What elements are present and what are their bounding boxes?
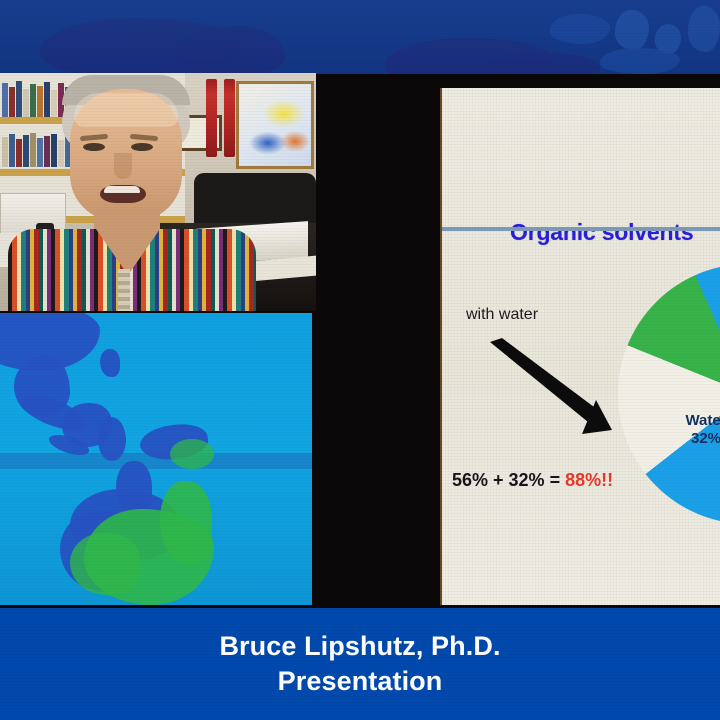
pie-slice-label-water: Water 32% [658, 412, 720, 449]
pie-chart-slices [618, 264, 720, 524]
equation-left: 56% + 32% = [452, 470, 565, 490]
screenshot-stage: Organic solvents with water Rea Water 32… [0, 0, 720, 720]
slide-title: Organic solvents [510, 219, 693, 246]
landmass-island [100, 349, 120, 377]
landmass-sulawesi [98, 417, 126, 461]
slide-equation: 56% + 32% = 88%!! [452, 470, 613, 491]
map-highlight-region [70, 533, 140, 595]
pie-label-water-value: 32% [658, 430, 720, 448]
pie-label-water-name: Water [658, 412, 720, 430]
framed-artwork [236, 81, 314, 169]
map-highlight-region [170, 439, 214, 469]
speaker-eye [83, 143, 105, 151]
caption-bar: Bruce Lipshutz, Ph.D. Presentation [0, 608, 720, 720]
slide-annotation-with-water: with water [466, 306, 538, 324]
shirt-placket [118, 269, 130, 311]
presentation-slide-panel[interactable]: Organic solvents with water Rea Water 32… [440, 88, 720, 605]
banner-gradient-overlay [0, 0, 720, 74]
world-map-video-panel[interactable] [0, 313, 312, 605]
speaker-forehead [74, 93, 178, 127]
caption-speaker-name: Bruce Lipshutz, Ph.D. [219, 629, 500, 664]
caption-subtitle: Presentation [278, 664, 443, 699]
speaker-video-panel[interactable] [0, 73, 316, 311]
speaker-nose [114, 153, 132, 179]
slide-divider-rule [442, 227, 720, 231]
top-map-banner [0, 0, 720, 74]
pie-chart: Rea Water 32% [618, 264, 720, 524]
equation-result: 88%!! [565, 470, 613, 490]
speaker-eye [131, 143, 153, 151]
speaker-teeth [104, 186, 140, 193]
down-right-arrow-icon [490, 338, 622, 434]
speaker-figure [18, 73, 234, 311]
artwork-canvas [239, 84, 311, 166]
